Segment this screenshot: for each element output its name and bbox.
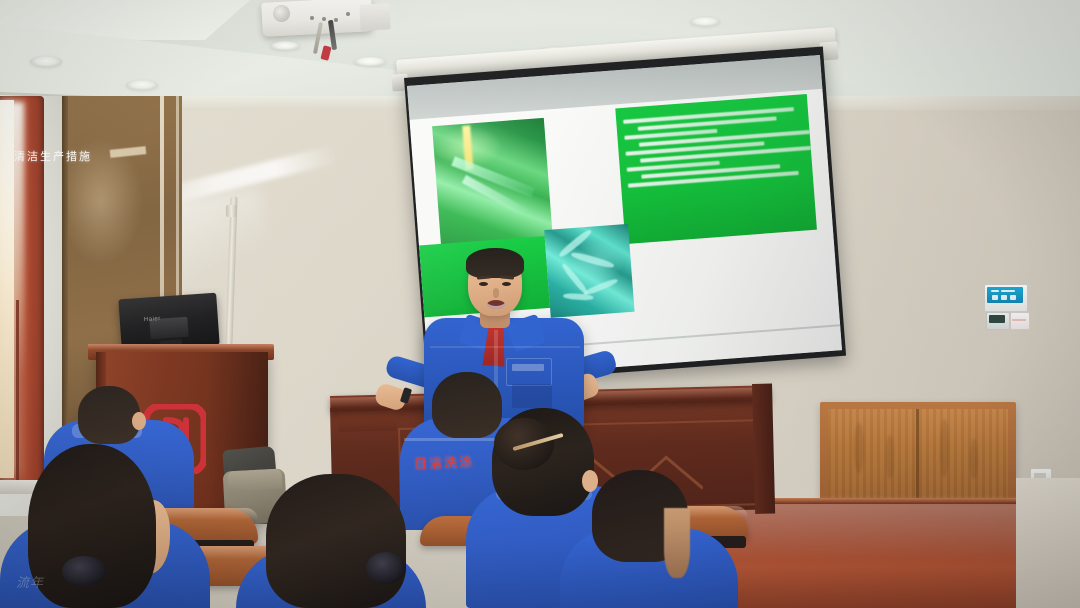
- wall-label-text: [1012, 319, 1026, 321]
- audience-head: [432, 372, 502, 438]
- window-mullion: [16, 300, 19, 485]
- speaker-side-pocket: [512, 384, 552, 408]
- speaker-nose: [493, 288, 499, 298]
- downlight-icon: [126, 80, 158, 90]
- slide-title-text: 清洁生产措施: [14, 148, 118, 161]
- watermark: 流年: [16, 572, 166, 592]
- right-wall-lower: [1016, 478, 1080, 608]
- speaker-eye: [479, 282, 488, 286]
- projector-side-panel: [359, 3, 390, 31]
- wall-label-plate: [1010, 312, 1030, 330]
- downlight-icon: [354, 57, 386, 66]
- downlight-icon: [30, 56, 62, 67]
- audience-ear: [132, 412, 146, 430]
- downlight-icon: [690, 17, 720, 26]
- hair-tie: [366, 552, 406, 584]
- ac-thermostat-display: [989, 315, 1005, 323]
- shoulder-bag-flap: [228, 469, 283, 492]
- slide-text-block: [615, 94, 817, 244]
- speaker-badge: [512, 364, 544, 371]
- window-sunlight: [2, 102, 24, 382]
- audience-hair-strand: [664, 508, 690, 578]
- wall-pipe-joint: [226, 205, 237, 217]
- speaker-eye: [502, 282, 511, 286]
- audience-head: [266, 474, 406, 608]
- uniform-back-text: 日洁洗涤: [414, 450, 503, 469]
- speaker-mouth: [487, 300, 505, 309]
- projector-button[interactable]: [346, 12, 350, 16]
- speaker-chest-pocket: [506, 358, 552, 386]
- projector-button[interactable]: [334, 18, 338, 22]
- slide-photo-leaves: [544, 224, 634, 318]
- ac-panel-display: [987, 287, 1023, 303]
- speaker-hair: [466, 248, 524, 278]
- projector-button[interactable]: [322, 17, 326, 21]
- audience-head: [78, 386, 140, 444]
- conference-room-photo: 清洁生产措施 Haier: [0, 0, 1080, 608]
- downlight-icon: [270, 41, 300, 50]
- cabinet-door-divider: [916, 409, 919, 502]
- podium-top-highlight: [88, 344, 274, 350]
- desk-right-edge: [752, 384, 775, 514]
- audience-ear: [582, 470, 598, 492]
- projector-button[interactable]: [310, 16, 314, 20]
- speaker-shirt-seam: [430, 346, 580, 348]
